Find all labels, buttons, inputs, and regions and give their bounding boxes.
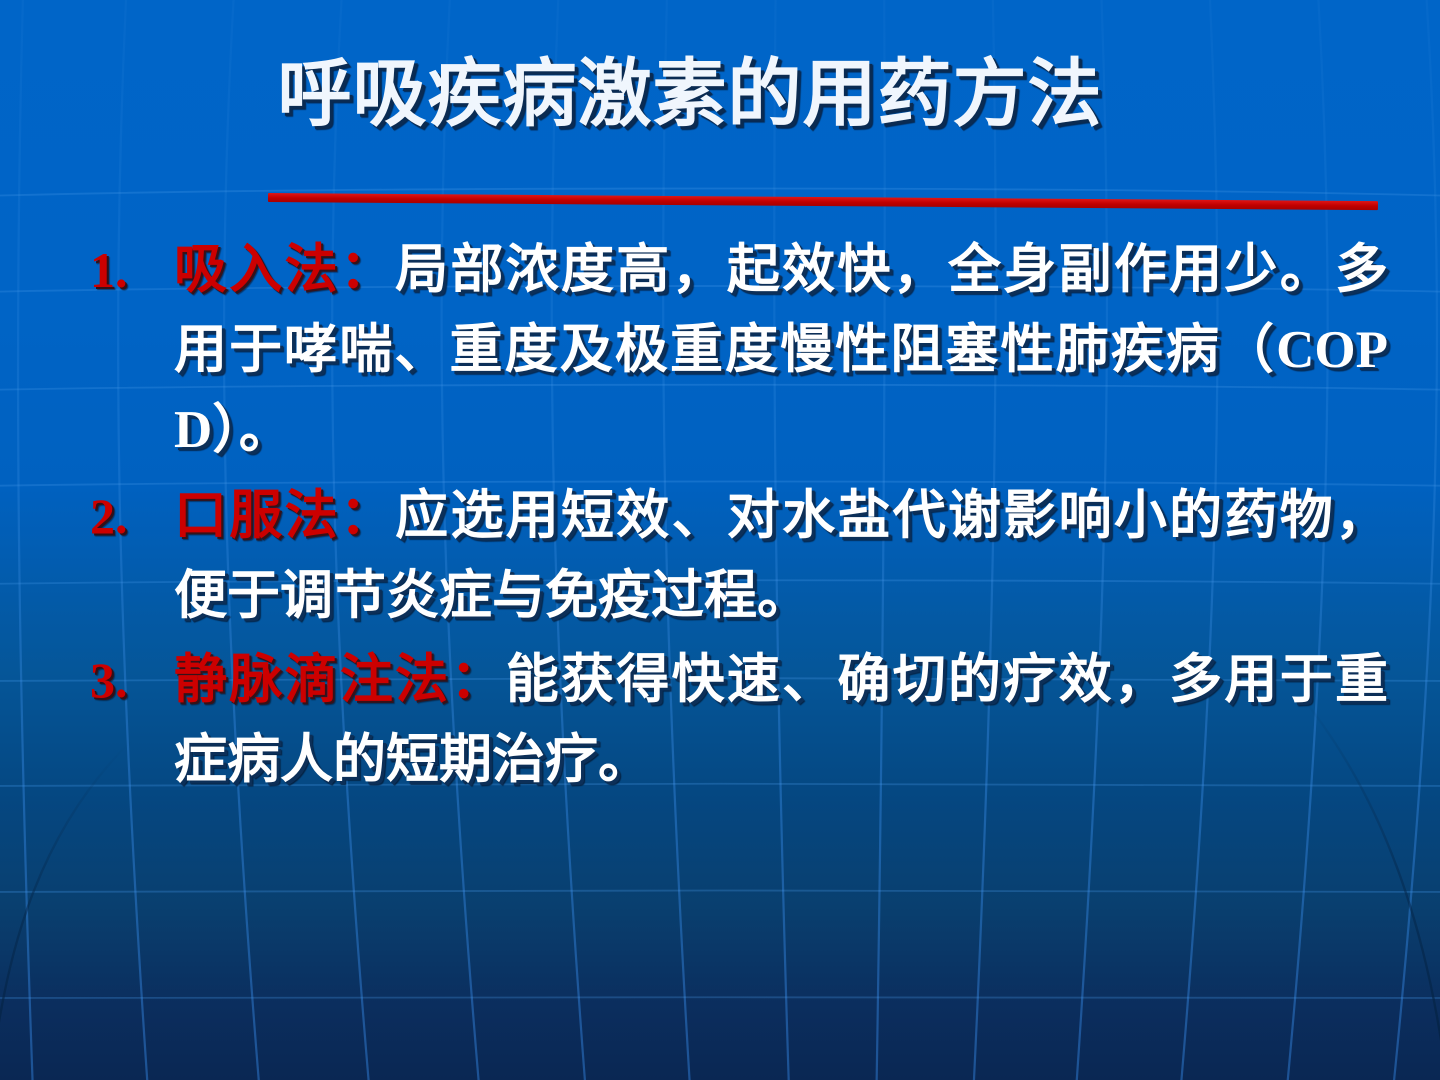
page-title: 呼吸疾病激素的用药方法 bbox=[278, 56, 1103, 134]
list-item-label: 静脉滴注法： bbox=[174, 649, 506, 710]
list-item-body-part-2: ）。 bbox=[212, 399, 292, 460]
list-item-text: 吸入法：局部浓度高，起效快，全身副作用少。多用于哮喘、重度及极重度慢性阻塞性肺疾… bbox=[174, 230, 1388, 470]
list-item: 3. 静脉滴注法：能获得快速、确切的疗效，多用于重症病人的短期治疗。 bbox=[78, 640, 1388, 800]
list-item-label: 口服法： bbox=[174, 485, 395, 546]
list-item-label: 吸入法： bbox=[174, 239, 395, 300]
list-item-number: 2. bbox=[78, 476, 174, 556]
list-item-text: 口服法：应选用短效、对水盐代谢影响小的药物，便于调节炎症与免疫过程。 bbox=[174, 476, 1388, 636]
title-block: 呼吸疾病激素的用药方法 bbox=[0, 56, 1440, 134]
list-item: 1. 吸入法：局部浓度高，起效快，全身副作用少。多用于哮喘、重度及极重度慢性阻塞… bbox=[78, 230, 1388, 470]
numbered-bullet-list: 1. 吸入法：局部浓度高，起效快，全身副作用少。多用于哮喘、重度及极重度慢性阻塞… bbox=[78, 230, 1388, 806]
list-item-number: 3. bbox=[78, 640, 174, 720]
list-item-number: 1. bbox=[78, 230, 174, 310]
presentation-slide: 呼吸疾病激素的用药方法 1. 吸入法：局部浓度高，起效快，全身副作用少。多用于哮… bbox=[0, 0, 1440, 1080]
list-item-text: 静脉滴注法：能获得快速、确切的疗效，多用于重症病人的短期治疗。 bbox=[174, 640, 1388, 800]
title-divider-rule bbox=[268, 193, 1378, 210]
list-item: 2. 口服法：应选用短效、对水盐代谢影响小的药物，便于调节炎症与免疫过程。 bbox=[78, 476, 1388, 636]
